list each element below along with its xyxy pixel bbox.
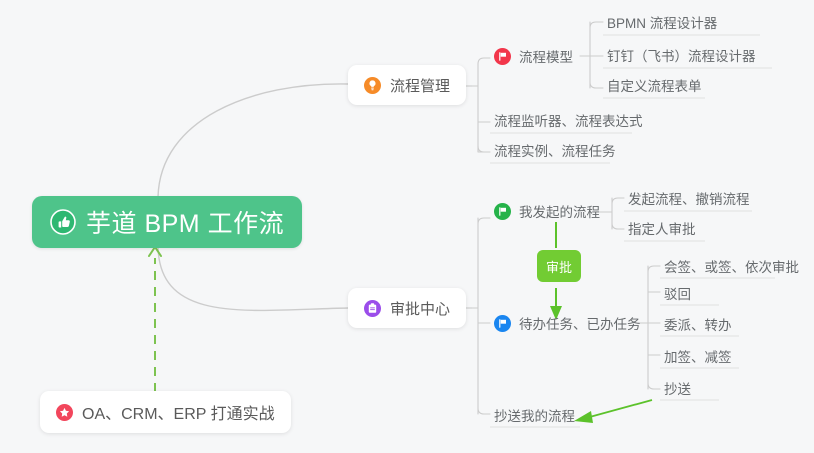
- node-process-listener-expression-label: 流程监听器、流程表达式: [494, 110, 643, 130]
- node-cc-to-me-process-label: 抄送我的流程: [494, 405, 575, 425]
- node-add-remove-sign[interactable]: 加签、减签: [660, 343, 736, 369]
- flag-icon: [494, 48, 511, 65]
- annotation-approval-tag-label: 审批: [546, 257, 572, 276]
- arrow-integration-head: [149, 247, 161, 256]
- node-reject-label: 驳回: [664, 283, 691, 303]
- node-assignee-approval[interactable]: 指定人审批: [624, 215, 700, 241]
- star-icon: [56, 404, 73, 421]
- mindmap-canvas: 芋道 BPM 工作流 流程管理 流程模型 BPMN 流程设计器 钉钉（飞书: [0, 0, 814, 453]
- node-cc-to-me-process[interactable]: 抄送我的流程: [490, 402, 579, 428]
- node-process-instance-task[interactable]: 流程实例、流程任务: [490, 137, 620, 163]
- node-add-remove-sign-label: 加签、减签: [664, 346, 732, 366]
- node-dingtalk-feishu-designer[interactable]: 钉钉（飞书）流程设计器: [603, 42, 760, 68]
- node-bpmn-designer[interactable]: BPMN 流程设计器: [603, 9, 721, 35]
- link-pm-branch: [472, 58, 490, 152]
- node-todo-done-tasks[interactable]: 待办任务、已办任务: [490, 310, 645, 336]
- lightbulb-icon: [364, 77, 381, 94]
- node-process-listener-expression[interactable]: 流程监听器、流程表达式: [490, 107, 647, 133]
- node-delegate-transfer-label: 委派、转办: [664, 314, 732, 334]
- node-countersign-or-sequential-label: 会签、或签、依次审批: [664, 256, 799, 276]
- link-process-model-children: [580, 22, 603, 88]
- link-root-to-process-management: [158, 84, 348, 197]
- node-assignee-approval-label: 指定人审批: [628, 218, 696, 238]
- node-process-management[interactable]: 流程管理: [348, 65, 466, 105]
- link-pm-branch-corner: [478, 146, 484, 152]
- node-reject[interactable]: 驳回: [660, 280, 695, 306]
- root-node[interactable]: 芋道 BPM 工作流: [32, 196, 302, 248]
- node-oa-crm-erp-label: OA、CRM、ERP 打通实战: [82, 400, 275, 424]
- node-process-model[interactable]: 流程模型: [490, 43, 577, 69]
- node-start-cancel-process[interactable]: 发起流程、撤销流程: [624, 185, 754, 211]
- node-approval-center-label: 审批中心: [390, 298, 450, 319]
- node-countersign-or-sequential[interactable]: 会签、或签、依次审批: [660, 253, 803, 279]
- node-custom-process-form-label: 自定义流程表单: [607, 75, 702, 95]
- node-process-model-label: 流程模型: [519, 46, 573, 66]
- node-approval-center[interactable]: 审批中心: [348, 288, 466, 328]
- annotation-approval-tag[interactable]: 审批: [537, 250, 581, 282]
- node-my-initiated-process-label: 我发起的流程: [519, 201, 600, 221]
- thumbs-up-icon: [50, 209, 76, 235]
- node-dingtalk-feishu-designer-label: 钉钉（飞书）流程设计器: [607, 45, 756, 65]
- flag-icon: [494, 315, 511, 332]
- node-process-management-label: 流程管理: [390, 75, 450, 96]
- node-process-instance-task-label: 流程实例、流程任务: [494, 140, 616, 160]
- node-start-cancel-process-label: 发起流程、撤销流程: [628, 188, 750, 208]
- root-label: 芋道 BPM 工作流: [86, 204, 284, 240]
- flag-icon: [494, 203, 511, 220]
- clipboard-icon: [364, 300, 381, 317]
- node-delegate-transfer[interactable]: 委派、转办: [660, 311, 736, 337]
- node-bpmn-designer-label: BPMN 流程设计器: [607, 12, 717, 32]
- node-todo-done-tasks-label: 待办任务、已办任务: [519, 313, 641, 333]
- node-custom-process-form[interactable]: 自定义流程表单: [603, 72, 706, 98]
- node-my-initiated-process[interactable]: 我发起的流程: [490, 198, 604, 224]
- node-carbon-copy-label: 抄送: [664, 378, 691, 398]
- node-oa-crm-erp[interactable]: OA、CRM、ERP 打通实战: [40, 391, 291, 433]
- link-root-to-approval-center: [158, 247, 348, 310]
- link-ac-branch: [472, 218, 490, 414]
- node-carbon-copy[interactable]: 抄送: [660, 375, 695, 401]
- arrow-cc: [586, 400, 652, 418]
